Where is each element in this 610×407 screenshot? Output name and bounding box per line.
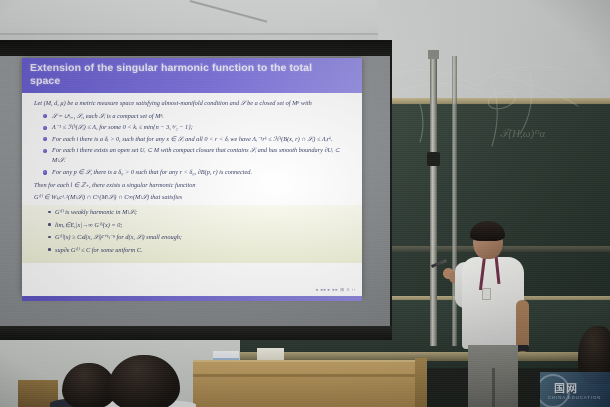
- slide-then-line1: Then for each l ∈ ℤ₊, there exists a sin…: [34, 181, 352, 191]
- slide-highlight-block: G⁽ˡ⁾ is weakly harmonic in M\𝒮ₗ; limₓ∈E,…: [22, 205, 362, 263]
- list-item: sup∂ᴇ G⁽ˡ⁾ ≤ C for some uniform C.: [48, 246, 352, 256]
- watermark-subtext: CHINA EDUCATION: [548, 395, 601, 400]
- beamer-slide: Extension of the singular harmonic funct…: [22, 58, 362, 296]
- presenter-leg-seam: [492, 368, 495, 407]
- screen-bottom-bar: [0, 326, 392, 340]
- ceiling-seam: [0, 33, 400, 35]
- watermark-text: 国网: [554, 380, 578, 396]
- list-item: G⁽ˡ⁾(x) ≥ Cₗd(x, 𝒮ₗ)²⁺ᵏₗ⁻ⁿ for d(x, 𝒮ₗ) …: [48, 233, 352, 243]
- list-item: limₓ∈E,|x|→∞ G⁽ˡ⁾(x) = 0;: [48, 221, 352, 231]
- slide-title-line1: Extension of the singular harmonic funct…: [30, 62, 312, 74]
- beamer-navigation-bar[interactable]: ◂ ◂◂ ▸ ▸▸ ⊞ ≡ ‹›: [315, 287, 356, 293]
- list-item: G⁽ˡ⁾ is weakly harmonic in M\𝒮ₗ;: [48, 208, 352, 218]
- lectern-side-panel: [415, 358, 427, 407]
- list-item: Λ⁻¹ ≤ ℋᵏ(𝒮ᵢ) ≤ Λ, for some 0 < kᵢ ≤ min{…: [43, 123, 352, 133]
- rail-clip[interactable]: [427, 152, 440, 166]
- lectern-front-panel: [193, 377, 425, 407]
- slide-lead: Let (M, d, μ) be a metric measure space …: [34, 99, 352, 109]
- list-item: 𝒮 = ∪ⁿᵢ₌₁ 𝒮ᵢ, each 𝒮ᵢ is a compact set o…: [43, 112, 352, 122]
- slide-hypothesis-list: 𝒮 = ∪ⁿᵢ₌₁ 𝒮ᵢ, each 𝒮ᵢ is a compact set o…: [34, 112, 352, 178]
- id-badge: [482, 288, 491, 300]
- rail-cap: [428, 50, 439, 59]
- blackboard-rail-left[interactable]: [430, 56, 437, 346]
- list-item: For each i there is a δᵢ > 0, such that …: [43, 135, 352, 145]
- slide-body: Let (M, d, μ) be a metric measure space …: [22, 93, 362, 264]
- slide-title: Extension of the singular harmonic funct…: [22, 58, 362, 93]
- presenter-hair: [470, 221, 505, 241]
- list-item: For each i there exists an open set Uᵢ ⊂…: [43, 146, 352, 166]
- presenter-shirt: [462, 257, 524, 349]
- broadcast-watermark: 国网 CHINA EDUCATION: [540, 372, 610, 407]
- slide-conclusion-list: G⁽ˡ⁾ is weakly harmonic in M\𝒮ₗ; limₓ∈E,…: [34, 208, 352, 256]
- list-item: For any p ∈ 𝒮, there is a δ₀ > 0 such th…: [43, 168, 352, 178]
- slide-then-line2: G⁽ˡ⁾ ∈ Wₗₒc¹˒²(M\𝒮ₗ) ∩ Cᵅ(M\𝒮ₗ) ∩ C∞(M\𝒮…: [34, 193, 352, 203]
- slide-title-line2: space: [30, 75, 354, 88]
- lecture-hall-scene: 𝒯(H,ω)ᴰα Extension of the singular harmo…: [0, 0, 610, 407]
- chalk-drawing: [380, 60, 610, 180]
- slide-footer-strip: [22, 296, 362, 301]
- screen-top-bar: [0, 40, 392, 56]
